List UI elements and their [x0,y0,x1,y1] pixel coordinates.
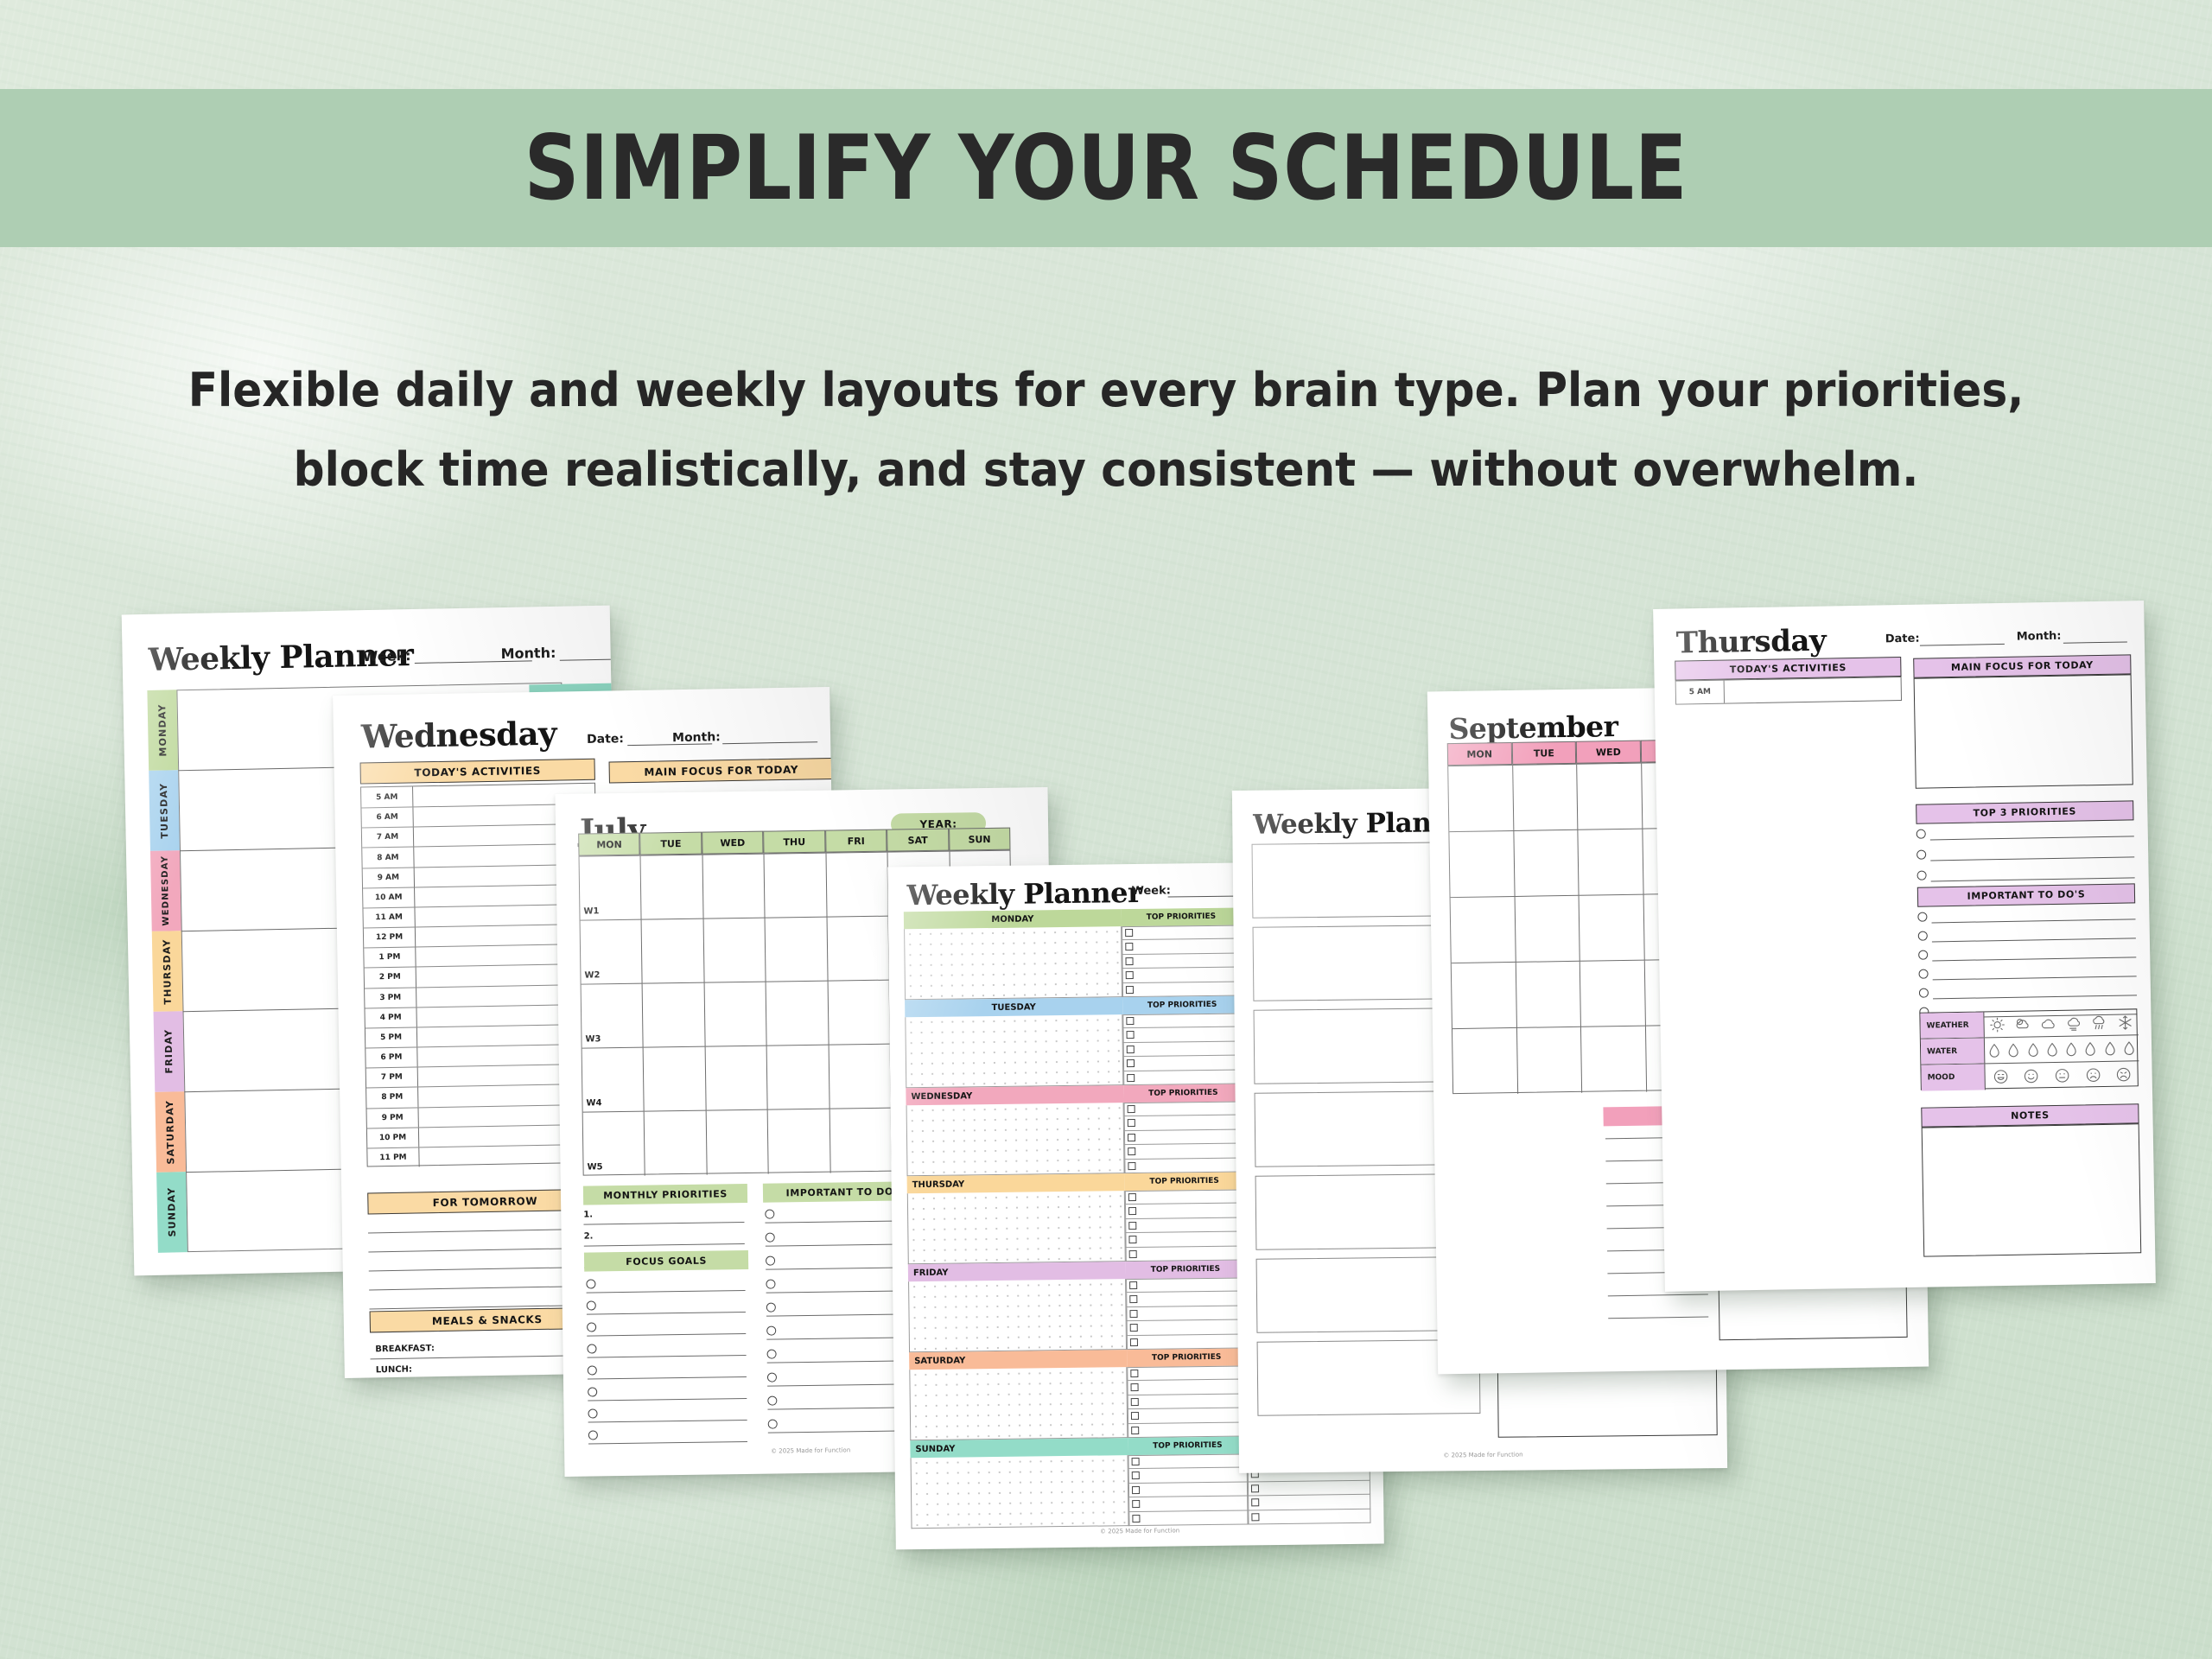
hour-label: 1 PM [364,948,416,968]
focus-goal-checkbox[interactable] [587,1322,596,1332]
priority-row[interactable] [1127,1365,1246,1381]
wind-icon[interactable] [2066,1015,2082,1031]
water-drop-icon[interactable] [2007,1042,2019,1058]
hour-label: 9 PM [366,1108,418,1128]
todo-checkbox[interactable] [1251,1498,1259,1506]
focus-goal-line[interactable] [588,1355,747,1358]
priority-checkbox[interactable] [1129,1310,1137,1318]
calendar-cell[interactable] [645,1111,707,1176]
todo-line[interactable] [1932,918,2136,923]
priority-checkbox[interactable] [1129,1281,1137,1289]
happy-face-icon[interactable] [2024,1068,2039,1084]
priority-row[interactable] [1128,1482,1248,1497]
priority-row[interactable] [1123,1027,1243,1043]
top3-checkbox[interactable] [1916,850,1926,860]
hour-label: 9 AM [363,868,415,887]
priority-row[interactable] [1128,1394,1247,1409]
priority-checkbox[interactable] [1131,1398,1139,1406]
priority-row[interactable] [1127,1334,1246,1350]
priority-checkbox[interactable] [1130,1370,1138,1377]
water-drop-icon[interactable] [1988,1043,2000,1058]
priority-row[interactable] [1124,1144,1243,1160]
weekly-left-daytab-sunday[interactable]: SUNDAY [156,1172,188,1253]
top3-line[interactable] [1930,836,2134,840]
todo-checkbox[interactable] [1918,931,1928,941]
focus-goal-line[interactable] [588,1376,747,1380]
focus-goal-checkbox[interactable] [588,1408,597,1418]
thursday-top3-bar: TOP 3 PRIORITIES [1916,800,2133,823]
priority-row[interactable] [1128,1453,1248,1469]
weekday-header-wed: WED [702,831,764,855]
hour-label: 10 PM [367,1128,419,1147]
priority-checkbox[interactable] [1132,1486,1140,1494]
calendar-cell[interactable] [1452,1028,1518,1095]
focus-goal-checkbox[interactable] [588,1387,597,1396]
priority-checkbox[interactable] [1128,1207,1136,1215]
thursday-month-input[interactable] [2063,641,2127,643]
thursday-hour-grid[interactable]: 5 AM [1675,677,1902,705]
calendar-cell[interactable] [1513,765,1579,831]
priority-row[interactable] [1125,1232,1244,1248]
weekday-header-thu: THU [763,830,825,854]
hour-label: 5 AM [361,786,413,807]
hour-label: 12 PM [364,928,416,948]
priority-row[interactable] [1128,1510,1248,1526]
weekly-left-daytab-label: MONDAY [147,690,178,771]
weekday-header-tue: TUE [640,832,702,855]
todo-line[interactable] [1932,938,2136,942]
july-monthly-priorities-bar: MONTHLY PRIORITIES [583,1184,747,1205]
weekday-header-mon: MON [578,833,640,856]
todo-row[interactable] [1248,1481,1370,1497]
water-drop-icon[interactable] [2046,1041,2058,1057]
todo-checkbox[interactable] [766,1303,776,1313]
todo-checkbox[interactable] [766,1326,776,1336]
wednesday-month-label: Month: [672,730,721,745]
day-dotgrid[interactable] [907,1191,1126,1264]
priority-row[interactable] [1127,1320,1246,1336]
focus-goal-checkbox[interactable] [588,1430,598,1440]
priority-row[interactable] [1124,1129,1243,1145]
hour-label: 7 PM [366,1068,418,1088]
thursday-tracker[interactable]: WEATHER WATER MOOD [1919,1008,2139,1090]
water-drop-icon[interactable] [2065,1041,2077,1057]
hour-label: 11 AM [363,907,415,927]
weekly-left-daytab-label: WEDNESDAY [150,850,181,931]
sheet-daily-thursday[interactable]: Thursday Date: Month: TODAY'S ACTIVITIES… [1653,601,2156,1292]
top-priorities-header: TOP PRIORITIES [1126,1260,1245,1279]
priority-line[interactable] [583,1222,744,1225]
weekly-left-daytab-friday[interactable]: FRIDAY [154,1011,185,1092]
weekly-left-daytab-label: SUNDAY [156,1172,188,1253]
weekday-header-wed: WED [1576,741,1641,764]
priority-checkbox[interactable] [1126,971,1134,979]
calendar-cell[interactable] [1448,766,1514,832]
priority-row[interactable] [1128,1497,1248,1512]
weekly-left-daytab-wednesday[interactable]: WEDNESDAY [150,850,181,931]
calendar-cell[interactable] [1514,830,1580,897]
priority-checkbox[interactable] [1128,1119,1135,1127]
priority-row[interactable] [1124,1116,1243,1131]
top-priorities-header: TOP PRIORITIES [1122,995,1242,1014]
weekly-left-month-input[interactable] [560,658,622,661]
priority-checkbox[interactable] [1127,1031,1135,1039]
todo-checkbox[interactable] [766,1233,775,1243]
todo-checkbox[interactable] [767,1350,777,1359]
hour-label: 10 AM [363,887,415,907]
calendar-cell[interactable] [1581,1027,1647,1093]
todo-line[interactable] [1932,957,2136,961]
weekly-left-daytab-label: SATURDAY [155,1091,186,1173]
priority-checkbox[interactable] [1129,1250,1137,1258]
calendar-cell[interactable] [1449,831,1515,898]
calendar-cell[interactable] [1452,963,1517,1029]
top-priorities-header: TOP PRIORITIES [1125,1172,1244,1191]
july-focus-goals-bar: FOCUS GOALS [584,1250,748,1272]
focus-goal-line[interactable] [587,1333,746,1337]
priority-checkbox[interactable] [1128,1222,1136,1230]
day-dotgrid[interactable] [904,926,1122,1000]
week-label: W3 [585,1034,601,1044]
weekly-center-week-label: Week: [1131,884,1171,898]
meal-label: LUNCH: [376,1365,412,1376]
water-drop-icon[interactable] [2084,1041,2096,1057]
todo-checkbox[interactable] [1251,1513,1259,1521]
calendar-cell[interactable] [766,982,829,1046]
priority-checkbox[interactable] [1132,1458,1140,1465]
hour-label: 3 PM [365,988,416,1007]
priority-checkbox[interactable] [1130,1324,1138,1332]
focus-goal-line[interactable] [587,1290,746,1294]
priority-row[interactable] [1125,1204,1244,1219]
priority-checkbox[interactable] [1131,1412,1139,1420]
thursday-mood-label: MOOD [1921,1064,1986,1090]
calendar-cell[interactable] [1579,829,1644,896]
calendar-cell[interactable] [643,983,705,1048]
water-drop-icon[interactable] [2123,1040,2135,1056]
rule-line[interactable] [1608,1316,1708,1319]
thursday-main-focus-box[interactable] [1914,674,2133,788]
calendar-cell[interactable] [826,853,888,918]
thursday-date-label: Date: [1885,632,1920,646]
todo-row[interactable] [1248,1495,1370,1510]
hour-label: 2 PM [365,968,416,988]
calendar-cell[interactable] [703,918,766,983]
calendar-cell[interactable] [829,1045,891,1109]
rule-line[interactable] [1608,1294,1708,1296]
priority-checkbox[interactable] [1127,1059,1135,1067]
priority-checkbox[interactable] [1132,1515,1140,1522]
priority-checkbox[interactable] [1127,1074,1135,1082]
focus-goal-checkbox[interactable] [587,1344,596,1353]
todo-checkbox[interactable] [1919,988,1929,998]
day-dotgrid[interactable] [908,1279,1127,1352]
day-dotgrid[interactable] [909,1367,1128,1440]
weekly-left-daytab-thursday[interactable]: THURSDAY [152,931,183,1012]
calendar-cell[interactable] [766,918,828,982]
wednesday-title: Wednesday [361,715,557,756]
priority-row[interactable] [1125,1217,1244,1233]
priority-row[interactable] [1126,1306,1245,1321]
day-dotgrid[interactable] [911,1455,1129,1529]
sun-icon[interactable] [1989,1016,2005,1032]
priority-checkbox[interactable] [1128,1134,1135,1141]
hour-label: 6 AM [361,808,413,828]
sad-face-icon[interactable] [2085,1067,2101,1083]
top-priorities-header: TOP PRIORITIES [1123,1084,1243,1103]
hour-label: 6 PM [365,1047,417,1067]
hour-label: 11 PM [367,1147,419,1167]
hour-label: 7 AM [362,828,414,848]
top3-line[interactable] [1931,877,2135,881]
weekly-left-daytab-label: THURSDAY [152,931,183,1012]
priority-row[interactable] [1128,1408,1247,1424]
weekly-left-daytab-monday[interactable]: MONDAY [147,690,178,771]
calendar-cell[interactable] [702,855,765,919]
calendar-cell[interactable] [827,917,889,982]
priority-row[interactable] [1128,1422,1247,1438]
priority-row[interactable] [1126,1277,1245,1293]
partly-cloudy-icon[interactable] [2015,1016,2031,1032]
calendar-cell[interactable] [768,1109,830,1174]
todo-checkbox[interactable] [1918,950,1928,960]
very-sad-face-icon[interactable] [2116,1066,2132,1082]
water-drop-icon[interactable] [2027,1042,2039,1058]
focus-goal-checkbox[interactable] [588,1365,597,1375]
priority-row[interactable] [1124,1101,1243,1116]
focus-goal-checkbox[interactable] [587,1300,596,1310]
very-happy-face-icon[interactable] [1993,1069,2008,1084]
focus-goal-checkbox[interactable] [586,1279,595,1288]
priority-row[interactable] [1123,1070,1243,1085]
priority-row[interactable] [1123,1041,1243,1057]
todo-line[interactable] [1933,995,2137,999]
calendar-cell[interactable] [767,1046,829,1110]
calendar-cell[interactable] [1580,961,1646,1027]
thursday-title: Thursday [1675,624,1826,661]
calendar-cell[interactable] [1517,1027,1583,1094]
rain-icon[interactable] [2092,1014,2107,1030]
weekly-left-month-label: Month: [500,645,556,662]
weekly-center-title: Weekly Planner [906,876,1141,912]
wednesday-main-focus-bar: MAIN FOCUS FOR TODAY [609,758,834,784]
priority-line[interactable] [584,1243,745,1247]
priority-checkbox[interactable] [1128,1193,1136,1201]
cloud-icon[interactable] [2041,1015,2056,1031]
day-dotgrid[interactable] [905,1014,1123,1088]
calendar-cell[interactable] [829,1109,892,1173]
priority-row[interactable] [1122,925,1241,940]
weekday-header-sun: SUN [949,828,1011,851]
week-label: W5 [587,1162,602,1172]
planner-mockup-stage: Weekly Planner Week: Month: MONDAY TUESD… [0,0,2212,1659]
priority-checkbox[interactable] [1128,1147,1135,1155]
thursday-date-input[interactable] [1920,644,2005,646]
priority-number: 2. [584,1231,594,1241]
calendar-cell[interactable] [641,855,703,920]
wednesday-activities-bar: TODAY'S ACTIVITIES [360,759,595,785]
thursday-important-todos-bar: IMPORTANT TO DO'S [1917,883,2135,906]
priority-row[interactable] [1122,939,1241,955]
water-drop-icon[interactable] [2104,1040,2116,1056]
priority-checkbox[interactable] [1125,957,1133,965]
priority-checkbox[interactable] [1125,943,1133,950]
priority-row[interactable] [1122,982,1242,997]
todo-row[interactable] [1248,1509,1370,1524]
top3-checkbox[interactable] [1916,871,1926,880]
priority-row[interactable] [1125,1189,1244,1205]
priority-number: 1. [583,1210,593,1219]
neutral-face-icon[interactable] [2054,1068,2069,1084]
todo-checkbox[interactable] [767,1373,777,1382]
top-priorities-header: TOP PRIORITIES [1127,1348,1246,1367]
weekly-left-daytab-label: TUESDAY [149,770,180,851]
calendar-cell[interactable] [704,982,766,1047]
priority-row[interactable] [1122,953,1241,969]
todo-checkbox[interactable] [1251,1484,1259,1492]
priority-checkbox[interactable] [1126,986,1134,994]
day-dotgrid[interactable] [906,1103,1125,1176]
calendar-cell[interactable] [644,1047,706,1112]
weekly-left-daytab-tuesday[interactable]: TUESDAY [149,770,180,851]
calendar-cell[interactable] [706,1110,768,1175]
priority-checkbox[interactable] [1128,1162,1135,1170]
todo-checkbox[interactable] [768,1419,778,1428]
todo-line[interactable] [1933,976,2137,980]
focus-goal-line[interactable] [588,1398,747,1402]
week-label: W4 [586,1098,601,1108]
calendar-cell[interactable] [828,981,890,1046]
calendar-cell[interactable] [1577,764,1643,830]
priority-checkbox[interactable] [1132,1471,1140,1479]
priority-checkbox[interactable] [1131,1427,1139,1434]
priority-checkbox[interactable] [1132,1500,1140,1508]
weekday-header-tue: TUE [1511,741,1576,765]
priority-checkbox[interactable] [1128,1105,1135,1113]
calendar-cell[interactable] [1580,895,1645,962]
top3-line[interactable] [1930,856,2134,861]
weekday-header-sat: SAT [887,829,949,852]
priority-checkbox[interactable] [1127,1046,1135,1053]
weekday-header-mon: MON [1447,742,1512,766]
calendar-cell[interactable] [765,854,827,918]
focus-goal-line[interactable] [588,1420,747,1423]
priority-checkbox[interactable] [1125,929,1133,937]
priority-checkbox[interactable] [1126,1017,1134,1025]
meal-label: BREAKFAST: [375,1344,435,1354]
todo-checkbox[interactable] [1918,969,1928,979]
hour-label: 5 PM [365,1027,417,1047]
priority-checkbox[interactable] [1130,1338,1138,1346]
thursday-water-label: WATER [1921,1038,1985,1064]
week-label: W1 [583,906,599,916]
priority-checkbox[interactable] [1131,1383,1139,1391]
thursday-first-hour: 5 AM [1676,681,1725,704]
calendar-cell[interactable] [705,1046,767,1111]
hour-label: 4 PM [365,1007,416,1027]
weekly-right-footer: © 2025 Made for Function [1239,1449,1727,1461]
weekly-left-daytab-saturday[interactable]: SATURDAY [155,1091,186,1173]
top-priorities-header: TOP PRIORITIES [1128,1436,1247,1455]
priority-row[interactable] [1123,1056,1243,1071]
calendar-cell[interactable] [1451,897,1516,963]
snow-icon[interactable] [2118,1014,2133,1030]
hour-label: 8 PM [366,1088,418,1108]
thursday-notes-box[interactable] [1922,1123,2142,1256]
priority-row[interactable] [1128,1468,1248,1484]
top3-checkbox[interactable] [1916,829,1926,839]
priority-row[interactable] [1127,1380,1246,1395]
thursday-month-label: Month: [2017,630,2062,644]
calendar-cell[interactable] [1515,896,1580,963]
priority-row[interactable] [1126,1246,1245,1262]
priority-row[interactable] [1122,968,1242,983]
priority-checkbox[interactable] [1129,1295,1137,1303]
weekly-left-week-label: Week: [363,647,411,664]
weekly-left-daytab-label: FRIDAY [154,1011,185,1092]
focus-goal-line[interactable] [588,1441,747,1445]
top-priorities-header: TOP PRIORITIES [1122,907,1241,926]
priority-row[interactable] [1122,1013,1242,1028]
priority-checkbox[interactable] [1128,1236,1136,1243]
week-label: W2 [584,970,600,980]
hour-label: 8 AM [362,848,414,868]
todo-checkbox[interactable] [766,1280,775,1289]
calendar-cell[interactable] [1516,962,1581,1028]
weekday-header-fri: FRI [825,829,887,853]
calendar-cell[interactable] [642,919,704,984]
todo-checkbox[interactable] [766,1256,775,1266]
thursday-weather-label: WEATHER [1920,1012,1984,1038]
todo-checkbox[interactable] [765,1210,774,1219]
priority-row[interactable] [1126,1292,1245,1307]
focus-goal-line[interactable] [587,1312,746,1315]
wednesday-date-label: Date: [587,732,624,747]
priority-row[interactable] [1124,1158,1243,1173]
wednesday-month-input[interactable] [722,741,817,744]
todo-checkbox[interactable] [767,1396,777,1406]
todo-checkbox[interactable] [1917,912,1927,922]
